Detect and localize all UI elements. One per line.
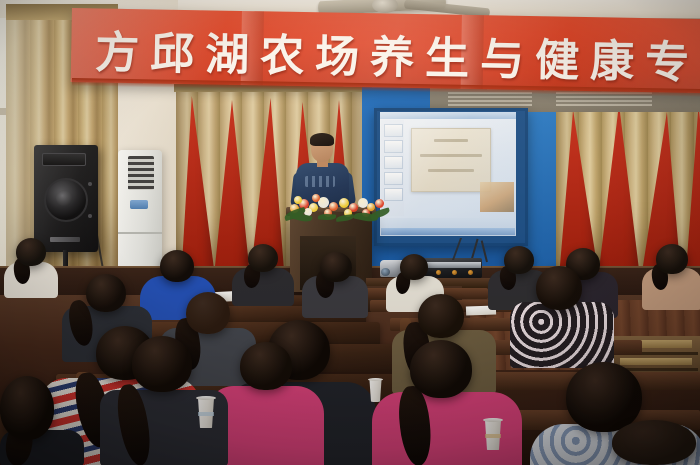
audience-member-head — [132, 336, 192, 392]
audience-member-torso — [642, 268, 700, 310]
audience-member-head — [248, 244, 278, 272]
air-conditioner-seam — [118, 232, 162, 234]
pa-speaker-tweeter — [42, 153, 86, 166]
audience-member-head — [16, 238, 46, 266]
audience-member-head — [240, 342, 292, 390]
amplifier — [420, 258, 482, 278]
paper-cup-rim — [196, 396, 216, 400]
audience-member-head — [186, 292, 230, 334]
amplifier-knob[interactable] — [468, 270, 473, 275]
amplifier-faceplate — [421, 262, 481, 268]
paper-cup-rim — [483, 418, 503, 422]
projector-lens — [381, 268, 390, 276]
flower — [339, 198, 349, 208]
audience-member-head — [320, 252, 352, 282]
photograph-seminar-hall: 方邱湖农场养生与健康专题 — [0, 0, 700, 465]
audience-member-torso — [232, 268, 294, 306]
pa-speaker-screw — [88, 182, 92, 186]
presenter-shirt-graphic — [305, 176, 335, 187]
audience-member-head — [410, 340, 472, 398]
flower — [312, 194, 320, 202]
audience-member-head — [566, 362, 642, 432]
air-conditioner-display — [130, 200, 148, 209]
amplifier-knob[interactable] — [452, 270, 457, 275]
pa-speaker-screw — [88, 214, 92, 218]
stage-step-riser — [620, 358, 692, 365]
pa-speaker-logo — [50, 237, 80, 242]
audience-member-head — [504, 246, 534, 274]
audience-member-head — [0, 376, 54, 440]
pa-speaker-dustcap — [56, 190, 72, 206]
audience-member-head — [160, 250, 194, 282]
audience-member-torso — [510, 302, 614, 368]
amplifier-knob[interactable] — [436, 270, 441, 275]
flower — [375, 199, 384, 208]
audience-member-head — [86, 274, 126, 312]
paper-cup-band — [485, 434, 501, 438]
air-conditioner-grille — [128, 156, 154, 190]
flower-arrangement — [288, 192, 384, 218]
flower — [294, 196, 302, 204]
air-vent — [448, 92, 532, 106]
audience-member-head — [418, 294, 464, 338]
audience-member-head — [656, 244, 688, 274]
audience-member-torso — [302, 276, 368, 318]
screen-glare — [380, 112, 516, 236]
audience-member-torso — [4, 262, 58, 298]
paper-cup-band — [198, 412, 214, 416]
audience-member-head — [536, 266, 582, 310]
audience-member-head — [612, 420, 696, 465]
presenter-hair — [310, 133, 334, 146]
audience-member-head — [400, 254, 428, 280]
paper-cup-rim — [368, 378, 383, 381]
